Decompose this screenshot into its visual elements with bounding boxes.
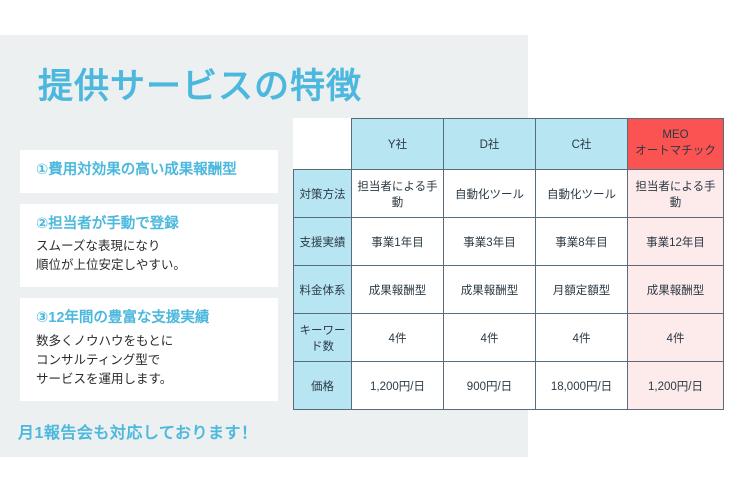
table-header-row: Y社 D社 C社 MEO オートマチック bbox=[294, 119, 724, 170]
table-cell: 事業1年目 bbox=[352, 218, 444, 266]
feature-card: ③12年間の豊富な支援実績 数多くノウハウをもとに コンサルティング型で サービ… bbox=[20, 298, 278, 401]
row-label: 対策方法 bbox=[294, 170, 352, 218]
table-row: 対策方法 担当者による手動 自動化ツール 自動化ツール 担当者による手動 bbox=[294, 170, 724, 218]
table-cell: 4件 bbox=[444, 314, 536, 362]
table-row: キーワード数 4件 4件 4件 4件 bbox=[294, 314, 724, 362]
page-title: 提供サービスの特徴 bbox=[38, 68, 362, 107]
feature-card: ①費用対効果の高い成果報酬型 bbox=[20, 150, 278, 193]
column-header-d: D社 bbox=[444, 119, 536, 170]
table-cell: 18,000円/日 bbox=[536, 362, 628, 410]
table-cell: 事業3年目 bbox=[444, 218, 536, 266]
feature-card-list: ①費用対効果の高い成果報酬型 ②担当者が手動で登録 スムーズな表現になり 順位が… bbox=[20, 150, 278, 412]
tagline: 月1報告会も対応しております！ bbox=[18, 419, 257, 443]
comparison-table: Y社 D社 C社 MEO オートマチック 対策方法 担当者による手動 自動化ツー… bbox=[293, 118, 724, 410]
table-cell-meo: 1,200円/日 bbox=[628, 362, 724, 410]
table-row: 料金体系 成果報酬型 成果報酬型 月額定額型 成果報酬型 bbox=[294, 266, 724, 314]
table-cell: 月額定額型 bbox=[536, 266, 628, 314]
table-cell-meo: 事業12年目 bbox=[628, 218, 724, 266]
table-cell-meo: 成果報酬型 bbox=[628, 266, 724, 314]
row-label: 価格 bbox=[294, 362, 352, 410]
table-row: 価格 1,200円/日 900円/日 18,000円/日 1,200円/日 bbox=[294, 362, 724, 410]
column-header-meo: MEO オートマチック bbox=[628, 119, 724, 170]
table-cell: 自動化ツール bbox=[444, 170, 536, 218]
row-label: 料金体系 bbox=[294, 266, 352, 314]
row-label: キーワード数 bbox=[294, 314, 352, 362]
feature-card: ②担当者が手動で登録 スムーズな表現になり 順位が上位安定しやすい。 bbox=[20, 204, 278, 288]
table-cell-meo: 担当者による手動 bbox=[628, 170, 724, 218]
table-corner-cell bbox=[294, 119, 352, 170]
table-cell: 4件 bbox=[536, 314, 628, 362]
table-cell: 900円/日 bbox=[444, 362, 536, 410]
table-cell: 4件 bbox=[352, 314, 444, 362]
table-row: 支援実績 事業1年目 事業3年目 事業8年目 事業12年目 bbox=[294, 218, 724, 266]
table-cell: 事業8年目 bbox=[536, 218, 628, 266]
table-cell: 担当者による手動 bbox=[352, 170, 444, 218]
table-cell: 成果報酬型 bbox=[444, 266, 536, 314]
column-header-c: C社 bbox=[536, 119, 628, 170]
feature-heading: ②担当者が手動で登録 bbox=[36, 215, 264, 235]
table-cell-meo: 4件 bbox=[628, 314, 724, 362]
table-cell: 自動化ツール bbox=[536, 170, 628, 218]
feature-body: スムーズな表現になり 順位が上位安定しやすい。 bbox=[36, 237, 264, 275]
row-label: 支援実績 bbox=[294, 218, 352, 266]
table-cell: 1,200円/日 bbox=[352, 362, 444, 410]
column-header-y: Y社 bbox=[352, 119, 444, 170]
feature-heading: ①費用対効果の高い成果報酬型 bbox=[36, 161, 264, 181]
table-cell: 成果報酬型 bbox=[352, 266, 444, 314]
table-body: 対策方法 担当者による手動 自動化ツール 自動化ツール 担当者による手動 支援実… bbox=[294, 170, 724, 410]
feature-heading: ③12年間の豊富な支援実績 bbox=[36, 309, 264, 329]
feature-body: 数多くノウハウをもとに コンサルティング型で サービスを運用します。 bbox=[36, 332, 264, 389]
